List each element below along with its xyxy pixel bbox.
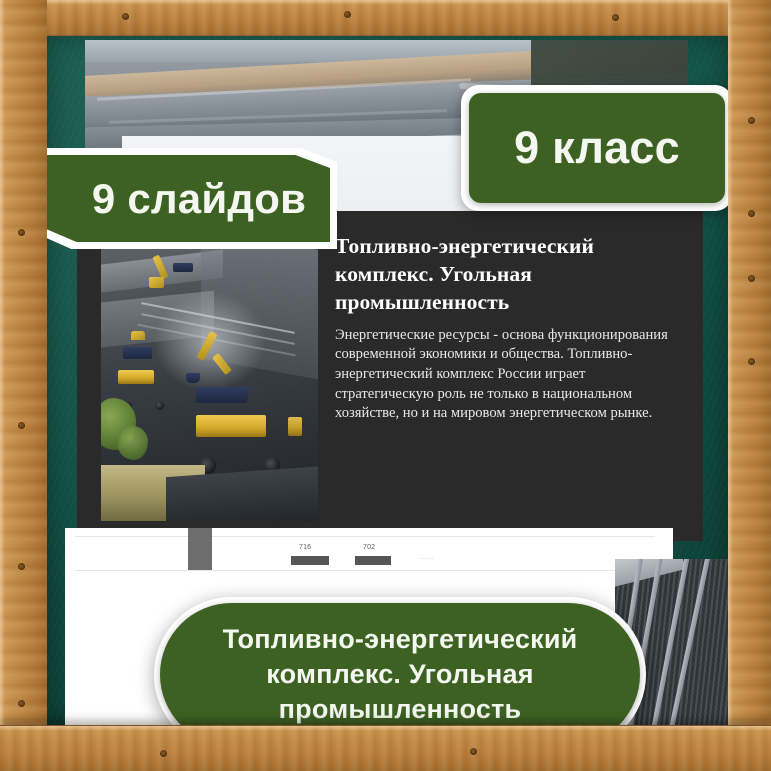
foreground-bush-small (118, 426, 148, 460)
grade-badge[interactable]: 9 класс (469, 93, 725, 203)
presentation-preview-poster: aerial-open-pit-quarry-photo ундаментом … (0, 0, 771, 771)
title-badge-outline: Топливно-энергетический комплекс. Угольн… (154, 597, 646, 725)
frame-screw-right-2 (748, 210, 755, 217)
truck-left-canopy (131, 331, 145, 340)
frame-screw-left-3 (18, 563, 25, 570)
truck-main-body (196, 415, 266, 437)
frame-screw-left-2 (18, 422, 25, 429)
frame-plank-bottom (0, 725, 771, 771)
frame-plank-right (728, 0, 771, 771)
chart-bar-0 (188, 528, 212, 570)
truck-left-tire-rear (155, 401, 164, 410)
chart-label-3: ····· (420, 556, 435, 562)
chart-label-2: 702 (363, 544, 375, 551)
main-slide-text-column: Топливно-энергетический комплекс. Угольн… (335, 233, 685, 424)
excavator-bucket (186, 373, 200, 383)
frame-plank-left-bevel (0, 0, 5, 771)
frame-plank-bottom-bevel (0, 726, 771, 731)
slides-count-badge-outline: 9 слайдов (47, 148, 337, 249)
frame-screw-right-3 (748, 275, 755, 282)
frame-screw-right-1 (748, 117, 755, 124)
chart-gridline-bottom (75, 570, 655, 571)
frame-screw-top-3 (612, 14, 619, 21)
frame-screw-left-1 (18, 229, 25, 236)
slides-count-badge[interactable]: 9 слайдов (47, 155, 330, 242)
main-slide-body: Энергетические ресурсы - основа функцион… (335, 326, 685, 424)
frame-plank-top (0, 0, 771, 36)
frame-plank-top-bevel (0, 0, 771, 5)
slide-thumbnail-main[interactable]: coal-open-pit-mine-photo Топливно-энерге… (77, 211, 703, 541)
frame-screw-top-2 (344, 11, 351, 18)
coal-mine-photo: coal-open-pit-mine-photo (101, 241, 318, 521)
chart-bar-2 (355, 556, 391, 565)
main-slide-heading: Топливно-энергетический комплекс. Угольн… (335, 233, 685, 317)
frame-plank-left (0, 0, 47, 771)
frame-screw-bottom-2 (470, 748, 477, 755)
chalkboard-background: aerial-open-pit-quarry-photo ундаментом … (47, 36, 728, 725)
grade-label: 9 класс (514, 122, 680, 174)
chart-bar-1 (291, 556, 329, 565)
chart-label-1: 716 (299, 544, 311, 551)
truck-upper-bed (173, 263, 193, 272)
frame-screw-bottom-1 (160, 750, 167, 757)
frame-screw-left-4 (18, 700, 25, 707)
title-badge[interactable]: Топливно-энергетический комплекс. Угольн… (160, 603, 640, 725)
grade-badge-outline: 9 класс (461, 85, 728, 211)
frame-plank-right-bevel (728, 0, 733, 771)
truck-main-cab (288, 417, 302, 436)
frame-screw-top-1 (122, 13, 129, 20)
frame-screw-right-4 (748, 358, 755, 365)
excavator-cab-upper (149, 277, 164, 288)
title-label: Топливно-энергетический комплекс. Угольн… (160, 622, 640, 725)
chart-gridline-top (75, 536, 655, 537)
slides-count-label: 9 слайдов (66, 175, 306, 223)
truck-main-bed (196, 387, 250, 403)
truck-left-bed (123, 347, 152, 359)
truck-left-body (118, 370, 154, 384)
